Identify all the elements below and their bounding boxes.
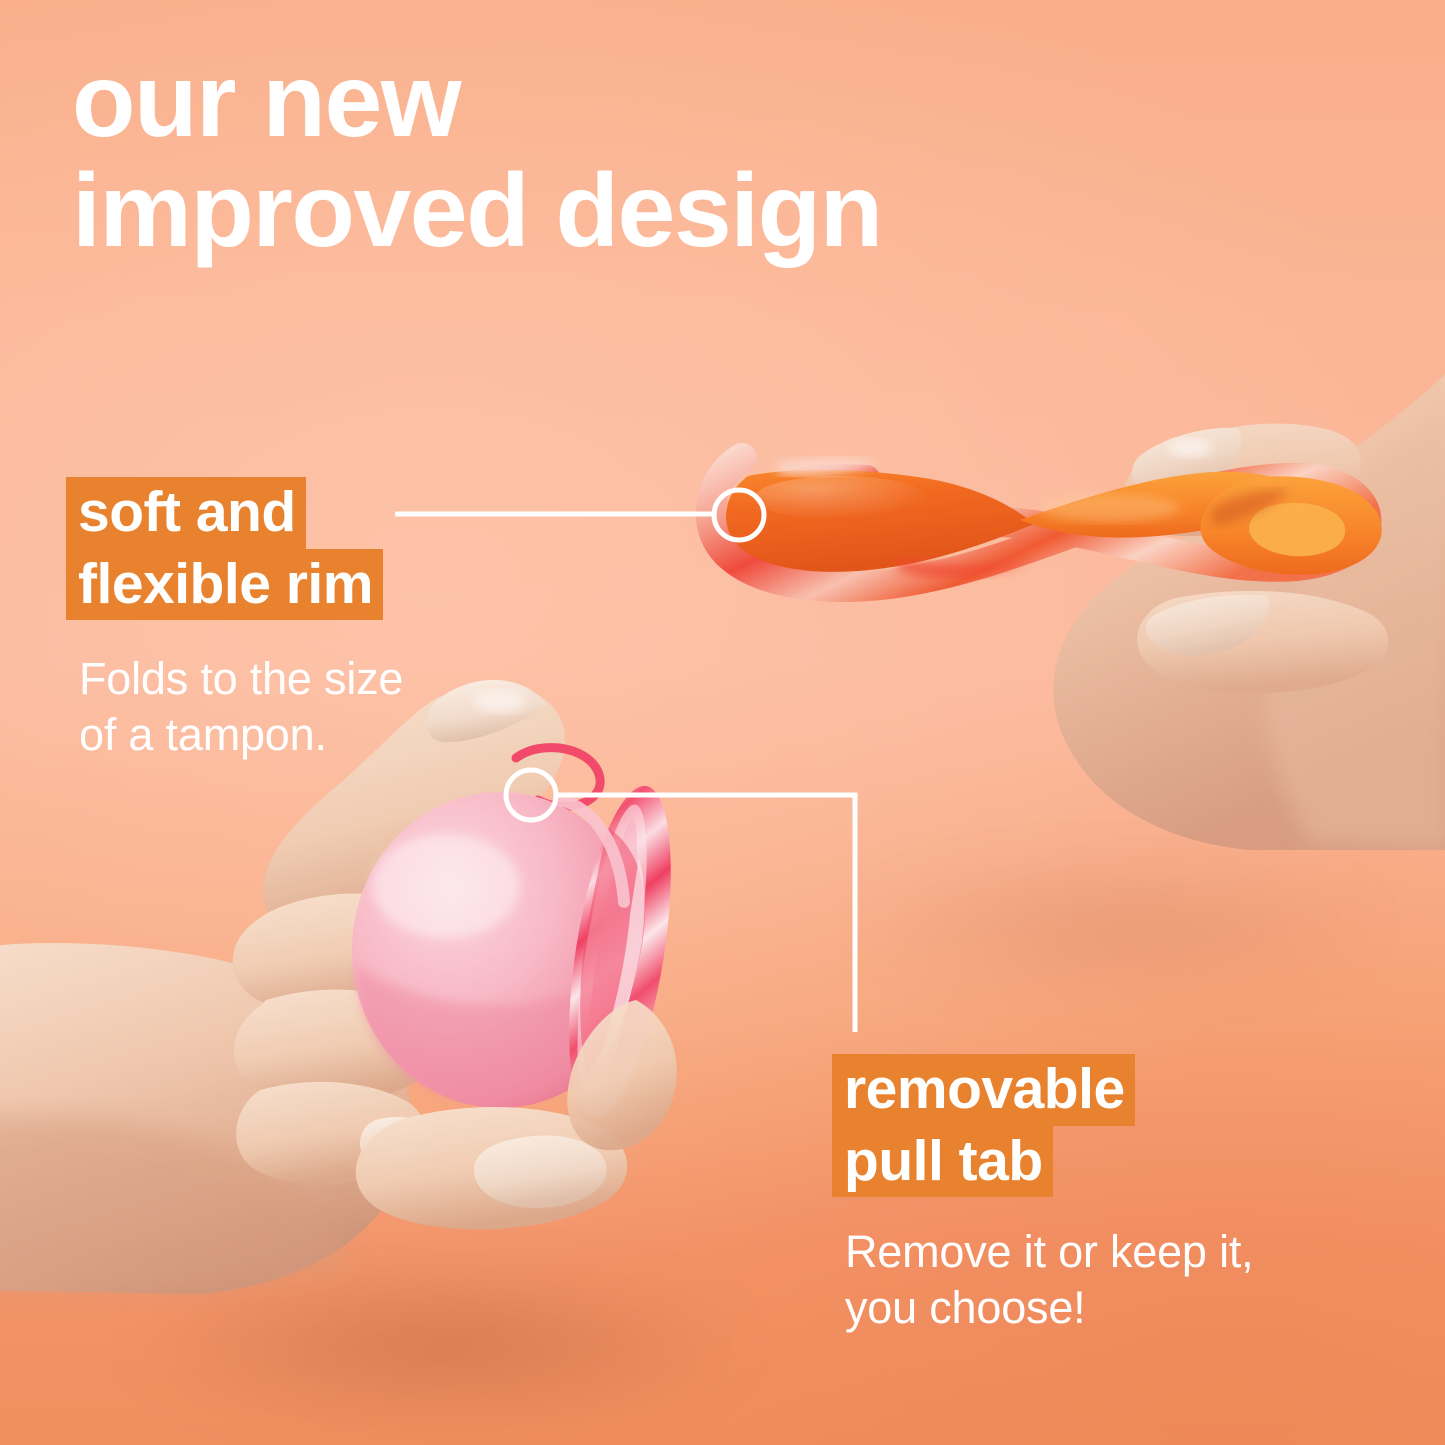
promo-image: our new improved design soft and flexibl… xyxy=(0,0,1445,1445)
callout-tag-block: removable xyxy=(832,1054,1253,1126)
bottom-hand-shadow xyxy=(120,1270,760,1420)
callout-tag-line-2: flexible rim xyxy=(66,549,383,621)
callout-soft-flexible-rim: soft and flexible rim Folds to the size … xyxy=(66,477,403,763)
callout-tag-line-1: removable xyxy=(832,1054,1135,1126)
callout-tag-block: flexible rim xyxy=(66,549,403,621)
callout-tag-block: soft and xyxy=(66,477,403,549)
rim-marker-ring xyxy=(714,490,764,540)
folded-orange-cup-in-hand xyxy=(690,330,1445,850)
callout-tag-line-2: pull tab xyxy=(832,1126,1053,1198)
callout-subtext: Folds to the size of a tampon. xyxy=(79,651,403,763)
callout-removable-pull-tab: removable pull tab Remove it or keep it,… xyxy=(832,1054,1253,1336)
top-hand-shadow xyxy=(840,860,1400,990)
callout-subtext: Remove it or keep it, you choose! xyxy=(845,1224,1253,1336)
pull-tab-marker-ring xyxy=(506,770,556,820)
callout-tag-block: pull tab xyxy=(832,1126,1253,1198)
page-title: our new improved design xyxy=(72,46,1172,266)
pull-tab-leader-line xyxy=(556,795,855,1032)
callout-tag-line-1: soft and xyxy=(66,477,306,549)
